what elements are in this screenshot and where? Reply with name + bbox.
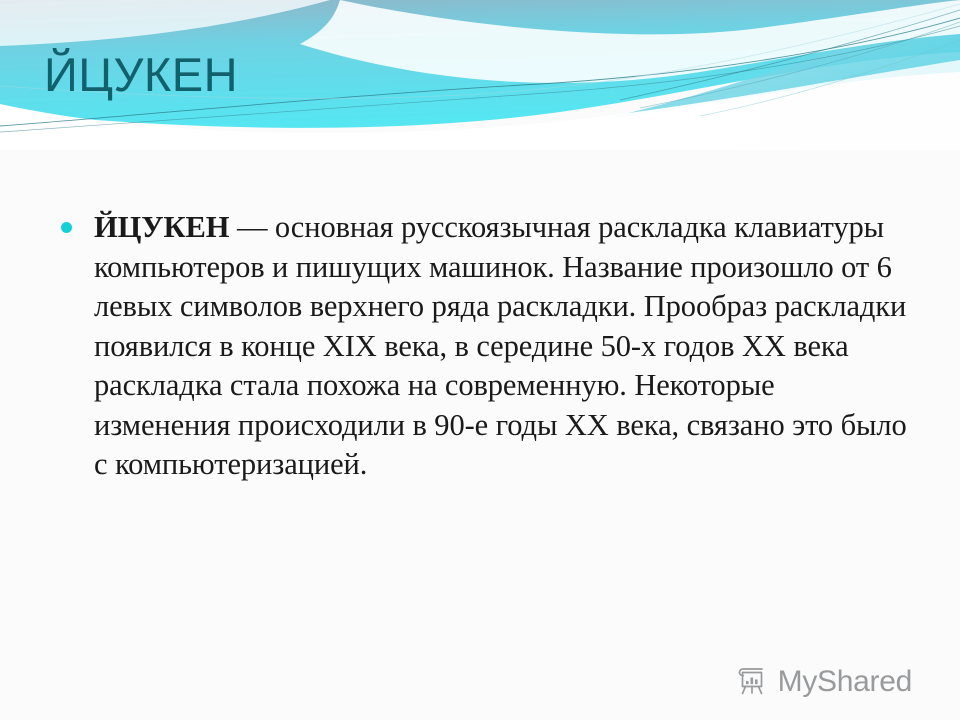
wave-band-secondary <box>600 6 960 120</box>
wave-hairline-3 <box>620 10 960 100</box>
slide-title: ЙЦУКЕН <box>44 50 238 99</box>
wave-white-upper <box>0 0 330 46</box>
myshared-watermark: MyShared <box>735 666 912 698</box>
bullet-dot-icon <box>61 222 72 233</box>
bullet-body-text: — основная русскоязычная раскладка клави… <box>94 210 907 481</box>
myshared-label: MyShared <box>778 667 912 697</box>
bullet-list-item: ЙЦУКЕН — основная русскоязычная раскладк… <box>58 208 908 485</box>
wave-hairline-5 <box>700 40 960 116</box>
bullet-lead-term: ЙЦУКЕН <box>94 210 229 244</box>
wave-white-sweep <box>300 0 960 83</box>
slide-body: ЙЦУКЕН — основная русскоязычная раскладк… <box>58 208 908 485</box>
wave-hairline-4 <box>640 22 960 108</box>
presentation-board-icon <box>735 666 769 698</box>
presentation-slide: ЙЦУКЕН ЙЦУКЕН — основная русскоязычная р… <box>0 0 960 720</box>
